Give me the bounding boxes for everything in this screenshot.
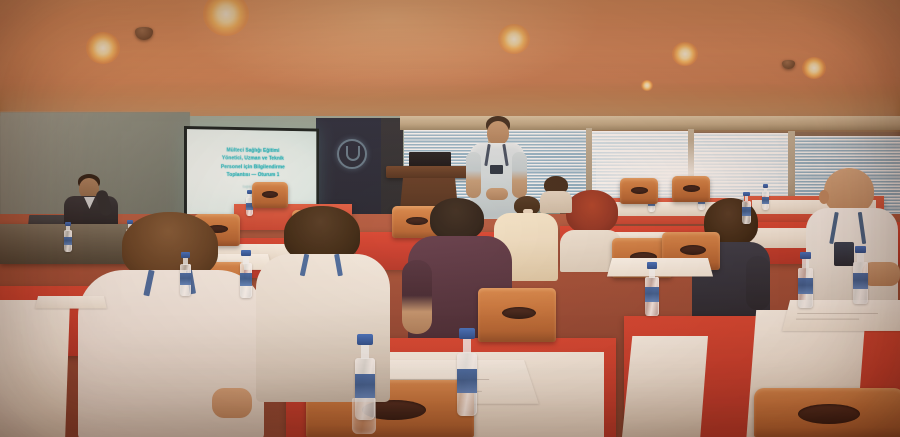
bottle-label (180, 273, 191, 285)
chair-cutout (683, 185, 700, 192)
bottle-neck (183, 257, 188, 265)
chair-far-2 (620, 178, 658, 204)
chair-cutout (798, 404, 860, 424)
chair-cover-front-right-2 (622, 336, 708, 437)
ceiling-light-3 (498, 24, 530, 54)
water-bottle-mid-3 (645, 262, 659, 316)
bottle-neck (745, 196, 749, 201)
bottle-cap (357, 334, 372, 345)
chair-far-1 (252, 182, 288, 208)
attendee-back-torso (540, 191, 572, 213)
bottle-cap (65, 222, 71, 226)
bottle-cap (800, 252, 811, 259)
paper-text-line (797, 313, 878, 314)
bottle-cap (647, 262, 658, 269)
paper-text-line (796, 319, 859, 320)
bottle-neck (66, 226, 70, 231)
handout-mid-right (607, 258, 713, 277)
attendee-purple-arm (402, 260, 432, 334)
bottle-label (853, 273, 868, 289)
chair-cutout (262, 191, 278, 198)
attendee-navy-arm (746, 256, 770, 310)
bottle-cap (855, 246, 866, 253)
presenter-badge (490, 165, 503, 174)
bottle-label (798, 278, 813, 294)
venue-logo-icon (337, 139, 367, 169)
podium-top (386, 166, 472, 178)
water-bottle-right-1 (742, 192, 751, 224)
ceiling-light-5 (802, 57, 826, 79)
chair-cutout (680, 245, 706, 255)
water-bottle-mid-1 (240, 250, 252, 298)
presenter-head (487, 121, 509, 145)
handout-lower-left (35, 296, 107, 309)
bottle-neck (764, 187, 767, 192)
attendee-white-badge (834, 242, 854, 266)
person-attendee-back-center (540, 176, 572, 210)
bottle-neck (649, 269, 655, 278)
drinking-glass-front (352, 398, 376, 434)
bottle-cap (241, 250, 250, 256)
bottle-neck (802, 259, 809, 268)
chair-front-right (754, 388, 900, 437)
bottle-label (742, 207, 751, 216)
water-bottle-mid-5 (853, 246, 868, 304)
bottle-neck (243, 256, 248, 264)
bottle-neck (248, 193, 251, 198)
bottle-neck (857, 253, 864, 262)
bottle-label (355, 374, 375, 398)
presenter-arm-right (512, 152, 527, 198)
bottle-cap (763, 184, 768, 188)
bottle-cap (743, 192, 750, 196)
attendee-white-ear (819, 190, 829, 204)
water-bottle-mid-4 (798, 252, 813, 308)
bottle-label (645, 287, 659, 302)
bottle-cap (181, 252, 189, 258)
person-attendee-front-left (78, 212, 264, 437)
attendee-fl-hand (212, 388, 252, 418)
bottle-label (457, 369, 477, 393)
attendee-red-hair-hair (566, 190, 618, 234)
attendee-purple-hair (430, 198, 484, 240)
water-bottle-head-1 (64, 222, 72, 252)
water-bottle-front-2 (457, 328, 477, 416)
ceiling-light-2 (86, 32, 120, 64)
chair-cutout (631, 187, 648, 194)
chair-center-back (478, 288, 556, 342)
bottle-neck (463, 339, 472, 353)
presenter-arm-left (466, 152, 481, 198)
water-bottle-mid-2 (180, 252, 191, 296)
bottle-label (240, 273, 252, 286)
chair-cutout (502, 307, 536, 319)
conference-room-photo: Mülteci Sağlığı Eğitimi Yönetici, Uzman … (0, 0, 900, 437)
bottle-cap (459, 328, 474, 339)
ceiling-light-4 (672, 42, 698, 66)
bottle-neck (361, 345, 370, 359)
bottle-label (64, 237, 72, 245)
chair-cover-front-left-1 (0, 300, 70, 437)
